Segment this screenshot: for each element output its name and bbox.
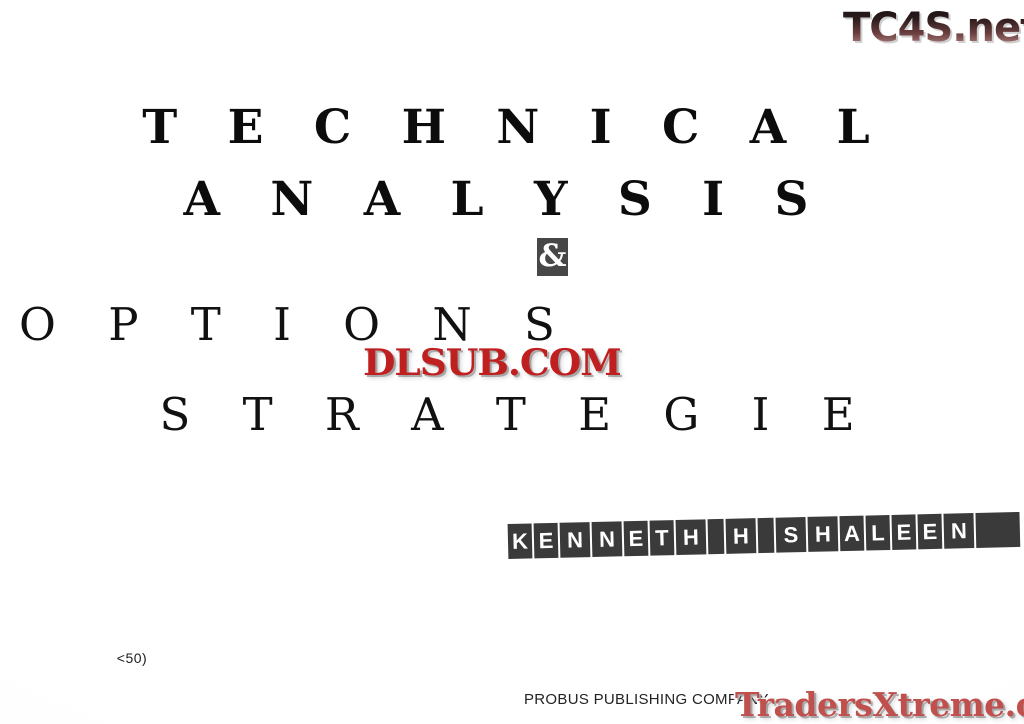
book-cover-page: T E C H N I C A L A N A L Y S I S & O P … bbox=[0, 0, 1024, 724]
author-spacer-tile bbox=[758, 518, 775, 553]
author-letter-tile: T bbox=[650, 520, 675, 556]
author-letter-tile: H bbox=[676, 519, 707, 555]
author-letter-tile: L bbox=[865, 515, 890, 551]
author-letter-tile: S bbox=[776, 517, 807, 553]
author-letter-tile: N bbox=[943, 513, 974, 549]
author-name-strip: KENNETHHSHALEEN bbox=[508, 512, 1021, 559]
title-line-analysis: A N A L Y S I S bbox=[0, 172, 1008, 227]
author-spacer-tile bbox=[975, 512, 1020, 548]
publisher-name: PROBUS PUBLISHING COMPANY bbox=[524, 691, 769, 708]
author-letter-tile: A bbox=[839, 516, 864, 552]
ampersand-badge: & bbox=[537, 238, 568, 276]
author-letter-tile: E bbox=[624, 521, 649, 557]
author-letter-tile: H bbox=[808, 516, 839, 552]
watermark-tc4s: TC4S.net bbox=[843, 6, 1024, 50]
title-line-strategies: S T R A T E G I E bbox=[0, 388, 1019, 441]
page-number-mark: <50) bbox=[0, 650, 644, 666]
author-letter-tile: N bbox=[560, 522, 591, 558]
watermark-dlsub: DLSUB.COM bbox=[363, 342, 621, 384]
author-letter-tile: E bbox=[534, 523, 559, 559]
author-letter-tile: E bbox=[891, 514, 916, 550]
author-letter-tile: H bbox=[726, 518, 757, 554]
author-letter-tile: N bbox=[592, 521, 623, 557]
author-letter-tile: K bbox=[508, 523, 533, 559]
watermark-tradersxtreme: TradersXtreme.com bbox=[735, 685, 1024, 724]
author-letter-tile: E bbox=[917, 514, 942, 550]
title-line-technical: T E C H N I C A L bbox=[0, 100, 1018, 155]
author-spacer-tile bbox=[708, 519, 725, 554]
